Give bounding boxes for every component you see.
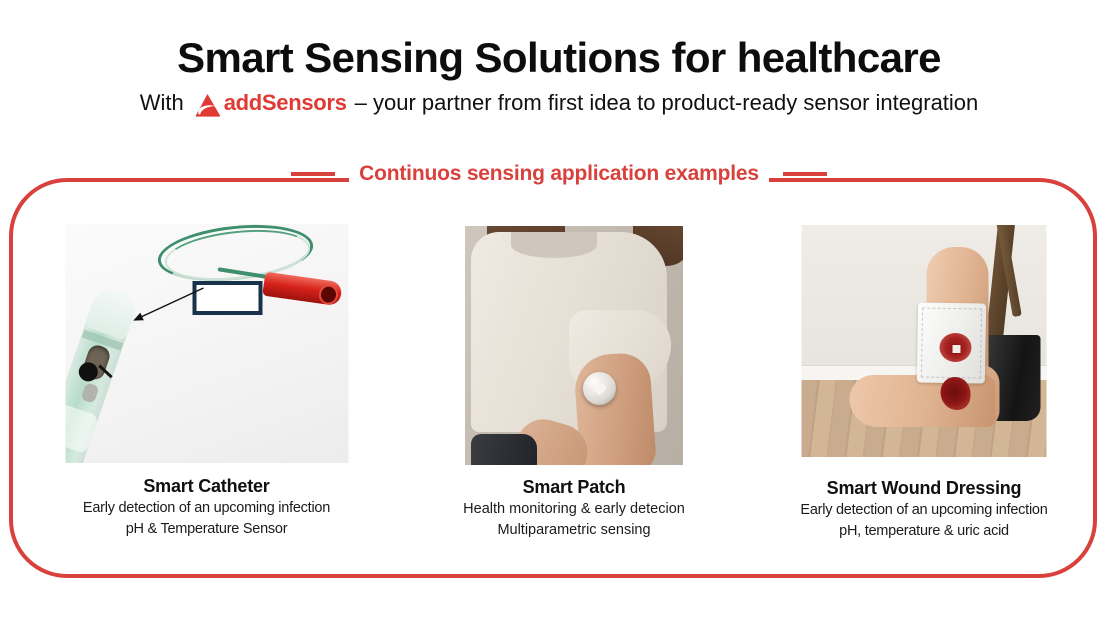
brand-name: addSensors	[224, 88, 347, 118]
panel-title-rule-left	[291, 172, 335, 176]
card-desc-line-1: Early detection of an upcoming infection	[59, 498, 354, 519]
connector-opening	[317, 283, 339, 305]
open-ankle-wound	[941, 377, 971, 410]
cards-row: Smart Catheter Early detection of an upc…	[9, 178, 1097, 578]
panel-title: Continuos sensing application examples	[349, 160, 769, 188]
addsensors-logo-icon	[193, 93, 221, 118]
card-desc-line-1: Early detection of an upcoming infection	[794, 500, 1054, 521]
person-jeans	[471, 434, 537, 465]
panel-title-rule-right	[783, 172, 827, 176]
catheter-caption: Smart Catheter Early detection of an upc…	[59, 474, 354, 540]
subtitle-prefix: With	[140, 88, 184, 118]
embedded-sensor-chip	[952, 344, 962, 354]
patch-caption: Smart Patch Health monitoring & early de…	[459, 475, 689, 541]
card-desc-line-2: pH & Temperature Sensor	[59, 519, 354, 540]
catheter-photo	[65, 224, 348, 463]
wound-dressing-photo	[802, 225, 1047, 457]
subtitle-row: With addSensors – your partner from firs…	[0, 88, 1118, 118]
smart-patch-photo	[465, 226, 683, 465]
card-smart-wound-dressing: Smart Wound Dressing Early detection of …	[794, 178, 1054, 578]
card-desc-line-2: pH, temperature & uric acid	[794, 521, 1054, 542]
card-smart-patch: Smart Patch Health monitoring & early de…	[459, 178, 689, 578]
catheter-callout-arrow	[125, 284, 207, 328]
page-title: Smart Sensing Solutions for healthcare	[0, 32, 1118, 84]
subtitle-suffix: – your partner from first idea to produc…	[355, 88, 979, 118]
page-header: Smart Sensing Solutions for healthcare W…	[0, 0, 1118, 140]
catheter-grey-element	[80, 382, 99, 404]
tshirt-neckline	[511, 232, 597, 258]
card-title: Smart Catheter	[59, 474, 354, 498]
wound-dressing-caption: Smart Wound Dressing Early detection of …	[794, 476, 1054, 542]
card-desc-line-2: Multiparametric sensing	[459, 520, 689, 541]
card-smart-catheter: Smart Catheter Early detection of an upc…	[59, 178, 354, 578]
card-title: Smart Wound Dressing	[794, 476, 1054, 500]
wearable-sensor-patch	[583, 372, 616, 405]
card-title: Smart Patch	[459, 475, 689, 499]
card-desc-line-1: Health monitoring & early detecion	[459, 499, 689, 520]
heart-icon	[591, 381, 608, 396]
panel-title-group: Continuos sensing application examples	[0, 160, 1118, 188]
